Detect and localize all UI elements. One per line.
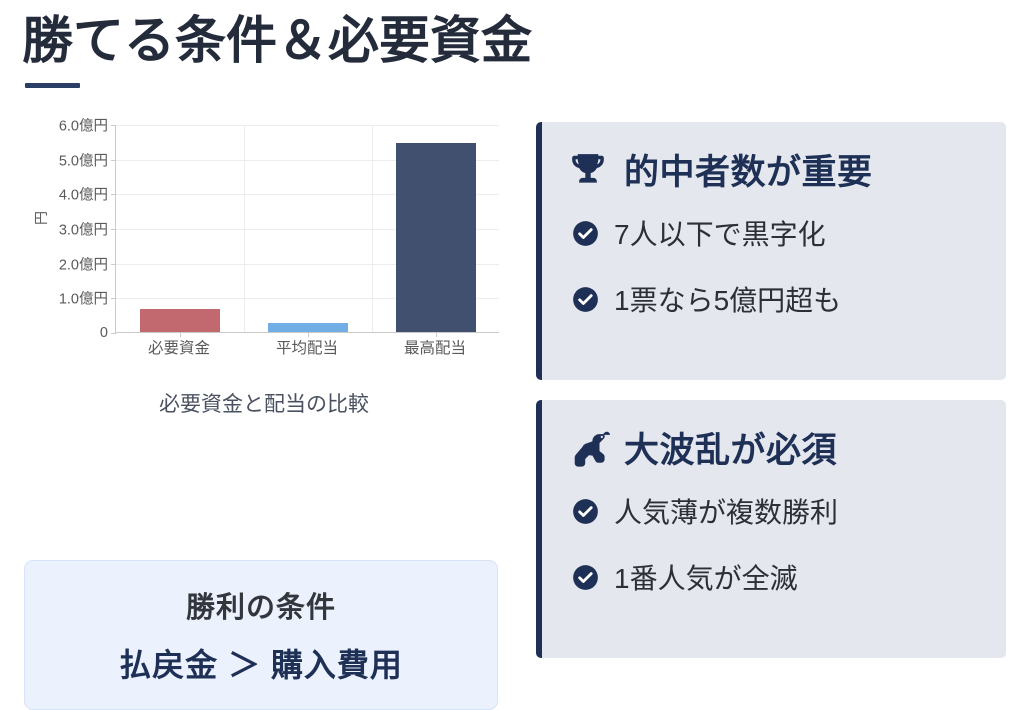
list-item: 7人以下で黒字化 [572, 213, 1006, 253]
x-axis-tick-labels: 必要資金平均配当最高配当 [115, 336, 499, 362]
chart-caption: 必要資金と配当の比較 [14, 388, 514, 418]
plot-area [115, 125, 499, 333]
panel-item-list: 7人以下で黒字化 1票なら5億円超も [542, 213, 1006, 319]
grid-line [116, 125, 499, 126]
page-title-block: 勝てる条件＆必要資金 [22, 10, 742, 88]
list-item-label: 人気薄が複数勝利 [614, 491, 838, 531]
y-axis-tick-mark [111, 333, 116, 334]
x-axis-tick-label: 平均配当 [276, 336, 338, 358]
y-axis-tick-label: 4.0億円 [59, 184, 108, 205]
bar-chart: 円 01.0億円2.0億円3.0億円4.0億円5.0億円6.0億円 必要資金平均… [14, 112, 514, 352]
list-item: 人気薄が複数勝利 [572, 491, 1006, 531]
winning-condition-box: 勝利の条件 払戻金 ＞ 購入費用 [24, 560, 498, 710]
list-item-label: 7人以下で黒字化 [614, 213, 826, 253]
page-title: 勝てる条件＆必要資金 [22, 10, 742, 72]
list-item: 1番人気が全滅 [572, 557, 1006, 597]
y-axis-tick-mark [111, 229, 116, 230]
y-axis-tick-mark [111, 194, 116, 195]
y-axis-tick-label: 1.0億円 [59, 288, 108, 309]
info-panel-big-upset: 大波乱が必須 人気薄が複数勝利 1番人気が全滅 [536, 400, 1006, 658]
check-circle-icon [572, 286, 599, 313]
check-circle-icon [572, 220, 599, 247]
chart-bar [396, 143, 475, 332]
condition-formula: 払戻金 ＞ 購入費用 [119, 640, 403, 686]
check-circle-icon [572, 564, 599, 591]
y-axis-tick-labels: 01.0億円2.0億円3.0億円4.0億円5.0億円6.0億円 [40, 112, 112, 334]
y-axis-tick-mark [111, 264, 116, 265]
panel-item-list: 人気薄が複数勝利 1番人気が全滅 [542, 491, 1006, 597]
trophy-icon [568, 150, 612, 190]
list-item-label: 1番人気が全滅 [614, 557, 798, 597]
info-panel-important-winners: 的中者数が重要 7人以下で黒字化 1票なら5億円超も [536, 122, 1006, 380]
panel-title: 的中者数が重要 [624, 144, 873, 195]
y-axis-tick-label: 6.0億円 [59, 115, 108, 136]
panel-header: 大波乱が必須 [542, 400, 1006, 473]
y-axis-tick-label: 0 [100, 325, 108, 341]
condition-heading: 勝利の条件 [186, 584, 336, 626]
panel-header: 的中者数が重要 [542, 122, 1006, 195]
grid-line-vertical [244, 125, 245, 332]
x-axis-tick-label: 最高配当 [404, 336, 466, 358]
x-axis-tick-label: 必要資金 [148, 336, 210, 358]
y-axis-tick-mark [111, 160, 116, 161]
y-axis-tick-label: 2.0億円 [59, 253, 108, 274]
y-axis-tick-label: 5.0億円 [59, 149, 108, 170]
y-axis-tick-mark [111, 298, 116, 299]
y-axis-tick-mark [111, 125, 116, 126]
left-column: 円 01.0億円2.0億円3.0億円4.0億円5.0億円6.0億円 必要資金平均… [0, 112, 520, 632]
list-item-label: 1票なら5億円超も [614, 279, 841, 319]
grid-line-vertical [372, 125, 373, 332]
check-circle-icon [572, 498, 599, 525]
y-axis-tick-label: 3.0億円 [59, 219, 108, 240]
title-underline-accent [25, 83, 80, 88]
chart-bar [268, 323, 347, 332]
chart-bar [140, 309, 219, 332]
panel-title: 大波乱が必須 [624, 422, 837, 473]
horse-icon [568, 428, 612, 468]
list-item: 1票なら5億円超も [572, 279, 1006, 319]
